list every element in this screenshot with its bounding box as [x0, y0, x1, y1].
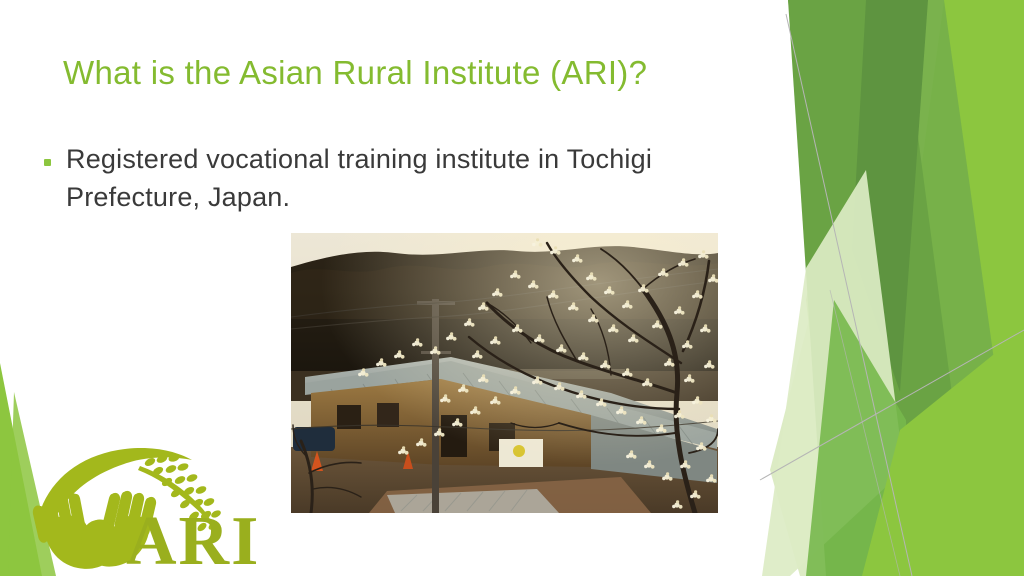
- right-hairline-2: [760, 330, 1024, 480]
- right-hairline-3: [830, 290, 900, 576]
- right-dark-green-band: [788, 0, 976, 576]
- body-bullet-list: Registered vocational training institute…: [44, 140, 744, 217]
- right-bright-overlay: [862, 330, 1024, 576]
- page-title: What is the Asian Rural Institute (ARI)?: [63, 54, 763, 92]
- campus-photo: [291, 233, 718, 513]
- right-lightmid-overlay: [806, 300, 910, 576]
- logo-wordmark: ARI: [126, 503, 260, 572]
- ari-logo: ARI: [26, 432, 278, 572]
- list-item: Registered vocational training institute…: [44, 140, 744, 217]
- bullet-text: Registered vocational training institute…: [66, 140, 744, 217]
- photo-sun-glow: [291, 233, 718, 513]
- right-mid-green-band: [788, 0, 1024, 576]
- slide-canvas: What is the Asian Rural Institute (ARI)?…: [0, 0, 1024, 576]
- right-bright-green-band: [866, 0, 1024, 576]
- right-pale-overlay: [762, 170, 904, 576]
- right-deep-green-band: [852, 0, 928, 392]
- right-light-green-band: [806, 0, 1024, 576]
- right-hairline: [786, 14, 912, 576]
- square-bullet-icon: [44, 140, 66, 171]
- right-pale-green-band: [770, 0, 1024, 576]
